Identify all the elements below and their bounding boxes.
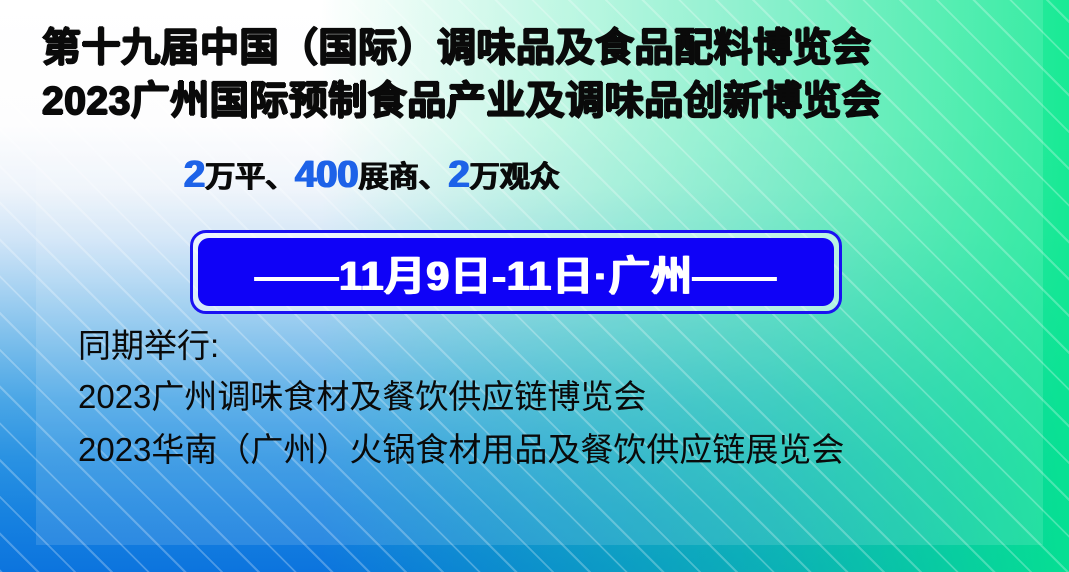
date-location-banner-inner: ——11月9日-11日·广州——: [198, 238, 834, 306]
stat-exhibitor-number: 400: [295, 154, 358, 196]
stat-visitor-number: 2: [449, 154, 470, 196]
title-line-1: 第十九届中国（国际）调味品及食品配料博览会: [42, 22, 881, 75]
concurrent-events-label: 同期举行:: [78, 322, 844, 370]
concurrent-event-2: 2023华南（广州）火锅食材用品及餐饮供应链展览会: [78, 423, 844, 476]
stat-area-unit: 万平、: [205, 161, 295, 194]
title-line-2: 2023广州国际预制食品产业及调味品创新博览会: [42, 75, 881, 128]
date-location-text: ——11月9日-11日·广州——: [255, 242, 777, 302]
stat-visitor-unit: 万观众: [470, 161, 560, 194]
stat-exhibitor-unit: 展商、: [359, 161, 449, 194]
date-location-banner: ——11月9日-11日·广州——: [190, 230, 842, 314]
page-title: 第十九届中国（国际）调味品及食品配料博览会 2023广州国际预制食品产业及调味品…: [42, 22, 881, 128]
concurrent-event-1: 2023广州调味食材及餐饮供应链博览会: [78, 370, 844, 423]
stats-line: 2万平、400展商、2万观众: [184, 154, 560, 204]
stat-area-number: 2: [184, 154, 205, 196]
concurrent-events-block: 同期举行: 2023广州调味食材及餐饮供应链博览会 2023华南（广州）火锅食材…: [78, 322, 844, 476]
poster-content: 第十九届中国（国际）调味品及食品配料博览会 2023广州国际预制食品产业及调味品…: [0, 0, 1069, 572]
event-poster: 第十九届中国（国际）调味品及食品配料博览会 2023广州国际预制食品产业及调味品…: [0, 0, 1069, 572]
